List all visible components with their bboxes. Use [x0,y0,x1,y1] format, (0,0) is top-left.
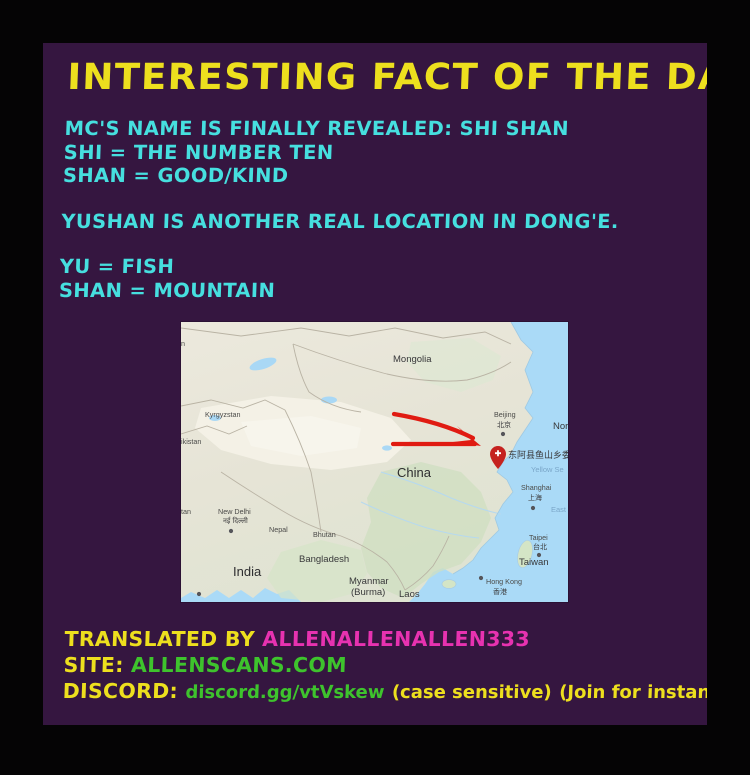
site-label: Site: [63,653,124,677]
map-label: Myanmar [349,576,389,587]
credit-line-translator: Translated by allenallenallen333 [64,626,695,652]
map-image: MongoliaKyrgyzstanikistantannBeijing北京No… [181,322,568,602]
page-title: Interesting Fact of the Day [66,56,696,100]
fact-line: MC's name is finally revealed: Shi Shan [64,117,680,141]
case-sensitive-note: (case sensitive) [392,682,553,703]
discord-link[interactable]: discord.gg/vtVskew [185,682,385,703]
map-label: ikistan [181,437,201,446]
map-label: Laos [399,589,420,600]
map-label: नई दिल्ली [223,516,248,525]
map-label: (Burma) [351,587,385,598]
map-label: 台北 [533,542,547,551]
translator-name: allenallenallen333 [262,627,530,651]
spacer [62,188,678,210]
map-label: 上海 [528,493,542,502]
map-lake [382,445,392,450]
fact-line: Shan = good/kind [63,164,679,188]
poster-page: Interesting Fact of the Day MC's name is… [0,0,750,775]
map-label: Taiwan [519,557,549,568]
spacer [60,233,676,255]
map-label: East C [551,505,568,514]
discord-label: Discord: [62,679,178,703]
map-hainan [442,580,456,589]
map-label: 香港 [493,587,507,596]
map-label: India [233,564,262,579]
content-panel: Interesting Fact of the Day MC's name is… [43,43,707,725]
map-label: Taipei [529,533,548,542]
fact-line: Yu = fish [59,255,675,279]
map-label: Beijing [494,410,516,419]
map-label: Kyrgyzstan [205,410,241,419]
map-pin-label: 东阿县鱼山乡委 [508,449,568,461]
fact-line: Shi = the number ten [63,141,679,165]
credit-line-site: Site: allenscans.com [63,652,694,678]
map-label: China [397,465,432,480]
map-label: 北京 [497,420,511,429]
map-label: New Delhi [218,507,251,516]
site-link[interactable]: allenscans.com [131,653,347,677]
credits-block: Translated by allenallenallen333 Site: a… [62,626,695,706]
fact-line: Shan = mountain [59,279,675,303]
credit-line-discord: Discord: discord.gg/vtVskew (case sensit… [62,678,693,706]
join-note: (Join for instant update) [559,682,707,703]
map-label: Shanghai [521,483,552,492]
map-label: Nepal [269,525,288,534]
fact-line: Yushan is another real location in Dong'… [61,210,677,234]
map-label: Nor [553,421,568,432]
map-label: Hong Kong [486,577,522,586]
map-label: Yellow Se [531,465,564,474]
fact-body: MC's name is finally revealed: Shi Shan … [59,117,680,302]
map-label: tan [181,507,191,516]
translated-by-label: Translated by [64,627,255,651]
map-label: n [181,339,185,348]
map-label: Bhutan [313,530,336,539]
map-label: Bangladesh [299,554,349,565]
map-lake [321,397,337,404]
map-label: Mongolia [393,354,432,365]
